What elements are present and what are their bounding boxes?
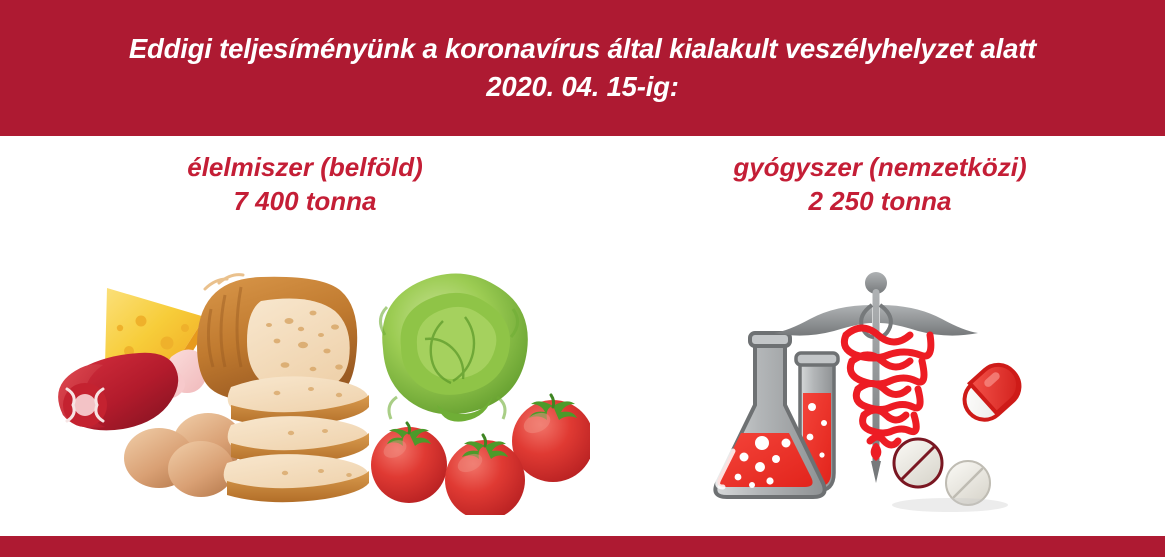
capsule-pill-icon <box>955 357 1028 428</box>
bread-slices-icon <box>224 376 369 502</box>
medicine-category-label: gyógyszer (nemzetközi) <box>600 150 1160 184</box>
page-title-line-2: 2020. 04. 15-ig: <box>486 68 678 106</box>
food-illustration <box>45 265 590 515</box>
eggs-icon <box>124 413 243 497</box>
column-medicine: gyógyszer (nemzetközi) 2 250 tonna <box>600 150 1160 218</box>
infographic-poster: Eddigi teljesíményünk a koronavírus álta… <box>0 0 1165 557</box>
round-pill-icon <box>894 439 942 487</box>
column-food: élelmiszer (belföld) 7 400 tonna <box>20 150 590 218</box>
food-amount-value: 7 400 tonna <box>20 184 590 218</box>
medicine-amount-value: 2 250 tonna <box>600 184 1160 218</box>
header-bar: Eddigi teljesíményünk a koronavírus álta… <box>0 0 1165 136</box>
page-title-line-1: Eddigi teljesíményünk a koronavírus álta… <box>129 30 1036 68</box>
food-category-label: élelmiszer (belföld) <box>20 150 590 184</box>
medicine-illustration <box>700 265 1045 520</box>
footer-bar <box>0 536 1165 557</box>
ham-leg-icon <box>58 349 208 430</box>
cabbage-icon <box>380 273 527 421</box>
